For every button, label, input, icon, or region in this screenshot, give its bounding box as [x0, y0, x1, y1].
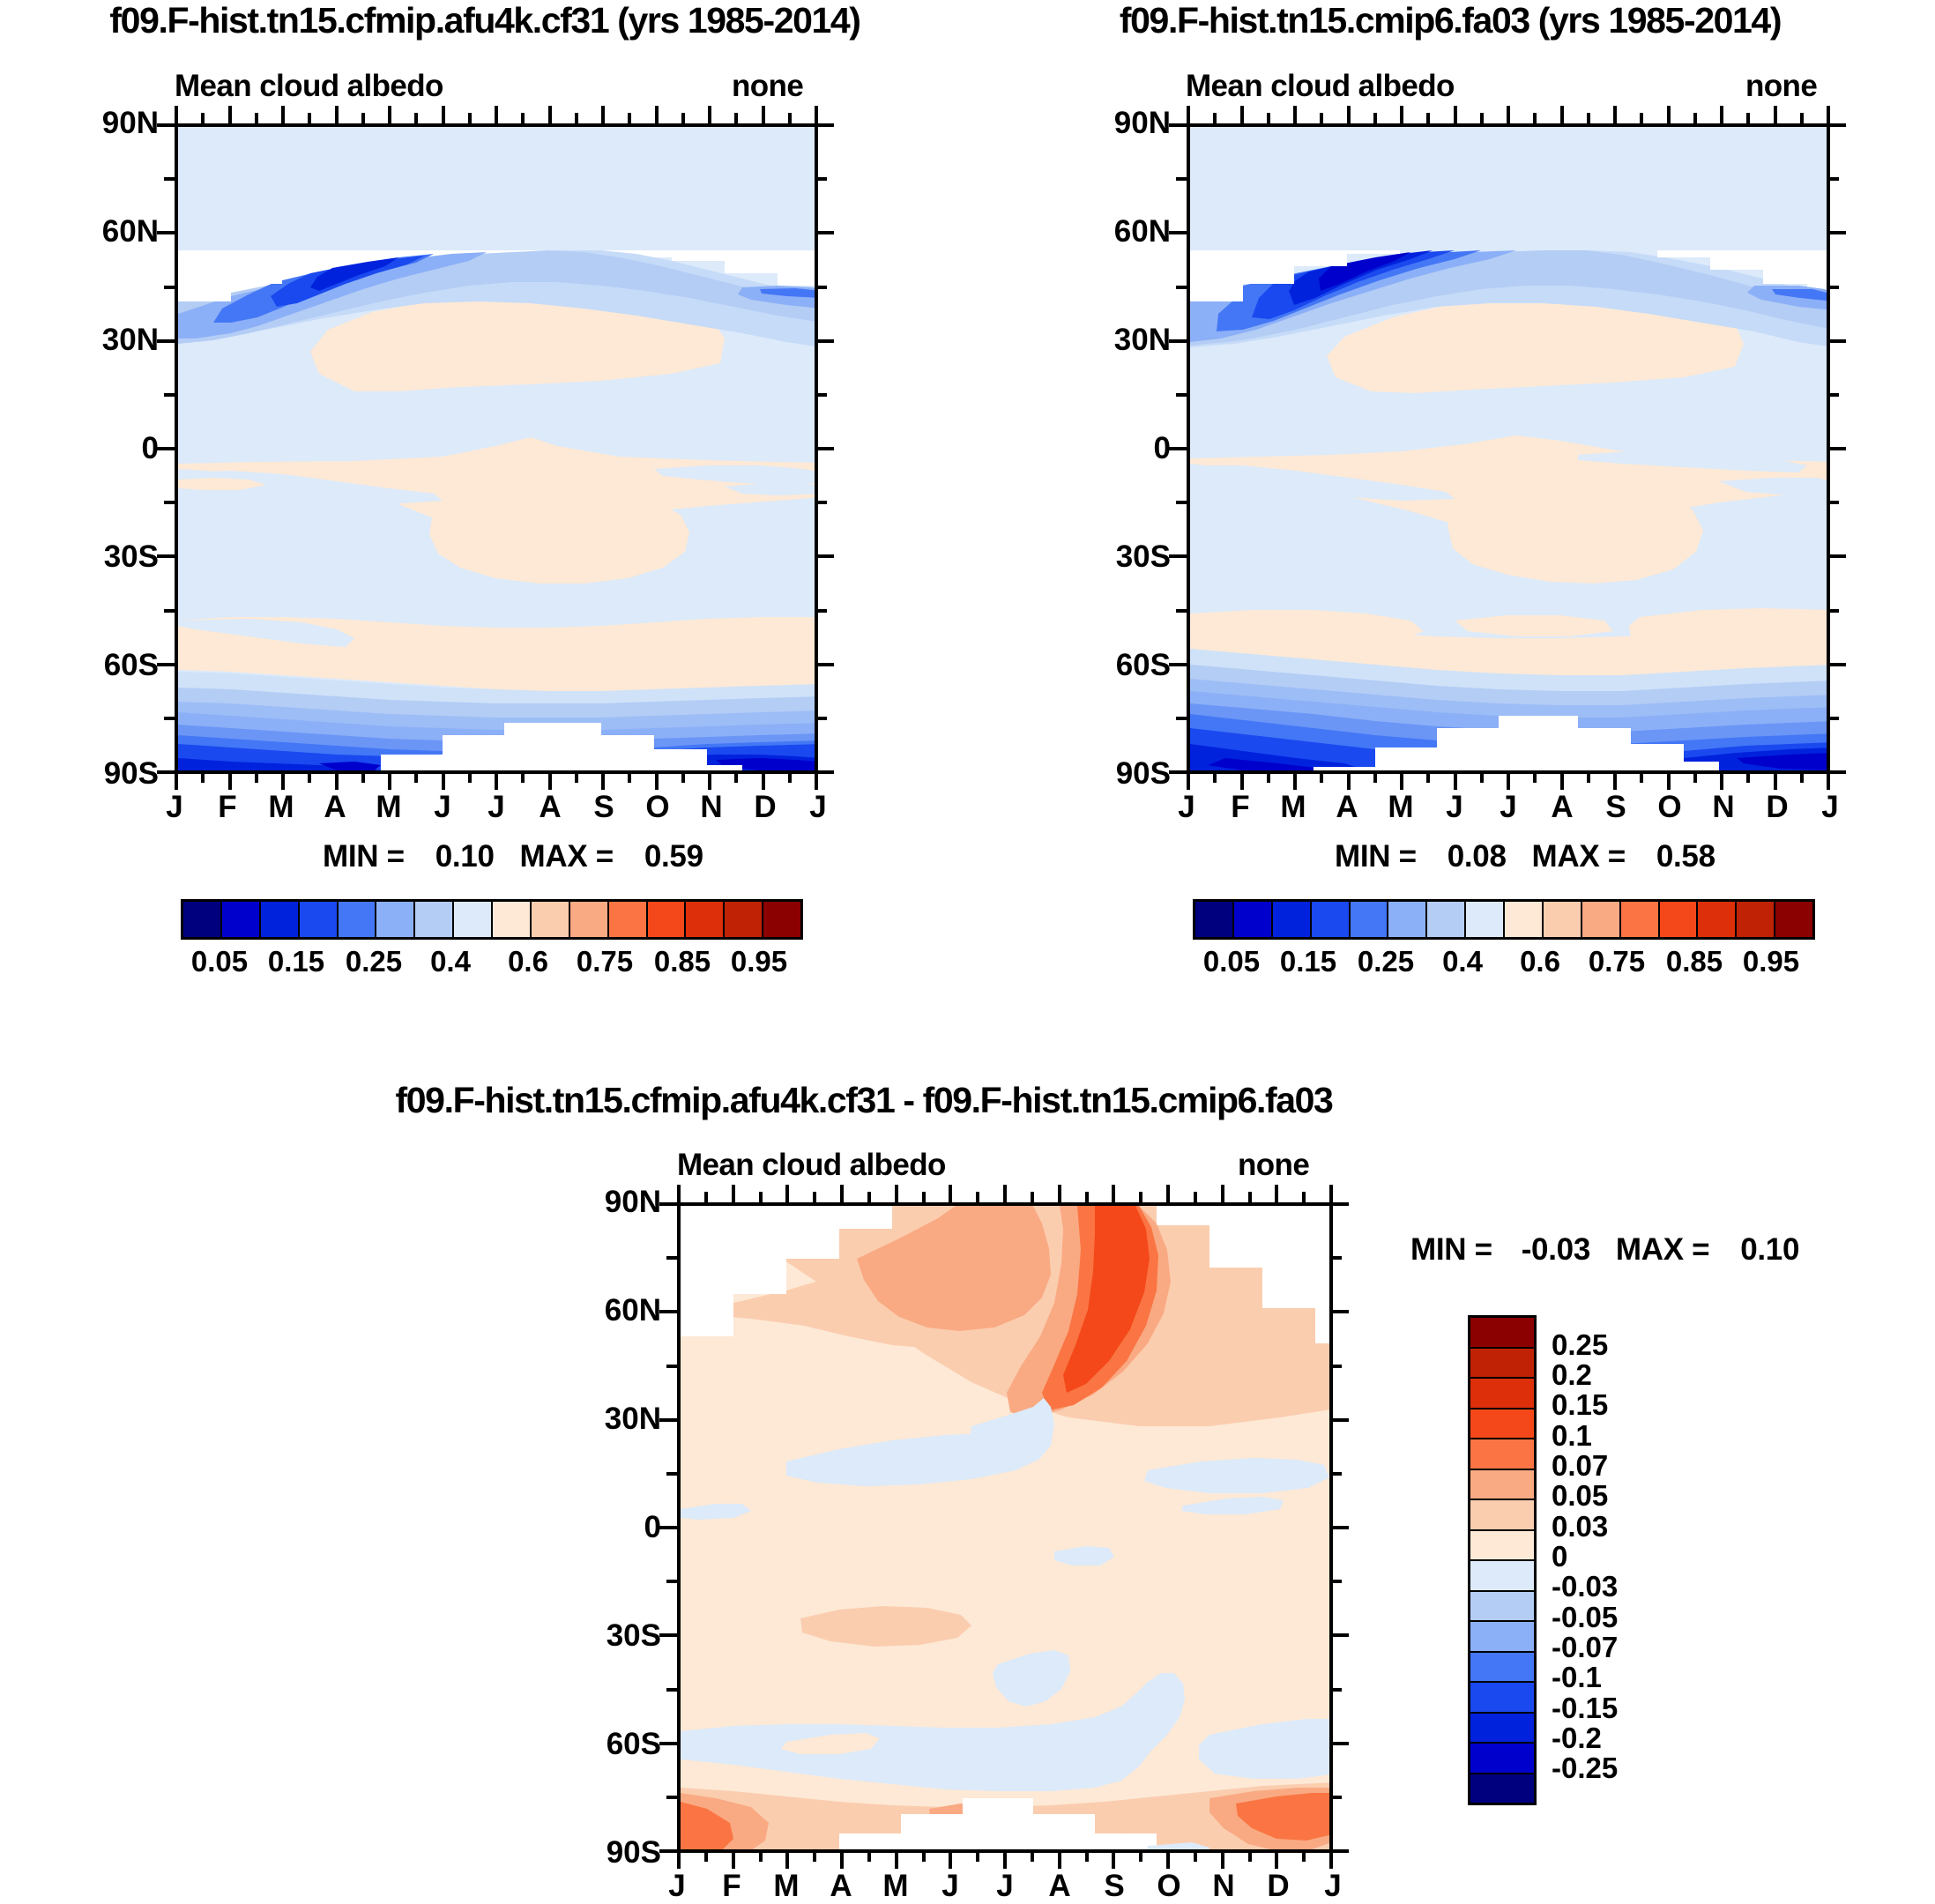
axis-tick-minor	[1480, 772, 1484, 783]
axis-tick-minor	[813, 1851, 816, 1862]
axis-tick-minor	[1213, 772, 1217, 783]
panel-difference-units-label: none	[1238, 1148, 1309, 1183]
colorbar-cell	[1470, 1379, 1534, 1409]
axis-tick-minor	[666, 1580, 677, 1583]
axis-tick-minor	[666, 1688, 677, 1692]
ytick-label-30n: 30N	[53, 323, 159, 358]
axis-tick-minor	[1331, 1472, 1342, 1476]
axis-tick-minor	[1746, 772, 1750, 783]
axis-tick-minor	[681, 113, 685, 123]
axis-tick	[1169, 231, 1187, 234]
axis-tick-minor	[666, 1365, 677, 1368]
axis-tick-minor	[1320, 772, 1323, 783]
axis-tick	[1112, 1185, 1115, 1202]
colorbar-cell	[1660, 902, 1699, 937]
axis-tick	[1667, 106, 1671, 123]
axis-tick	[840, 1851, 844, 1869]
colorbar-cell	[1388, 902, 1427, 937]
axis-tick	[1347, 106, 1351, 123]
axis-tick	[442, 772, 445, 790]
axis-tick	[1828, 554, 1846, 558]
axis-tick-minor	[816, 177, 827, 181]
panel-difference-minmax: MIN = -0.03 MAX = 0.10	[1410, 1232, 1799, 1268]
axis-tick-minor	[1139, 1851, 1142, 1862]
colorbar-cell	[1427, 902, 1466, 937]
colorbar-cell	[763, 902, 800, 937]
axis-tick	[1166, 1185, 1170, 1202]
axis-tick	[1454, 106, 1457, 123]
axis-tick	[1275, 1185, 1278, 1202]
colorbar-cell	[1470, 1774, 1534, 1804]
axis-tick-minor	[1828, 286, 1839, 289]
ytick-label-60s: 60S	[555, 1727, 661, 1762]
ytick-label-60n: 60N	[555, 1293, 661, 1328]
axis-tick-minor	[1373, 113, 1377, 123]
axis-tick-minor	[1194, 1851, 1197, 1862]
axis-tick	[1240, 106, 1244, 123]
ytick-label-60s: 60S	[1065, 648, 1171, 683]
axis-tick	[281, 106, 285, 123]
colorbar-cell	[532, 902, 570, 937]
axis-tick	[677, 1185, 681, 1202]
ytick-label-30n: 30N	[1065, 323, 1171, 358]
axis-tick-minor	[922, 1192, 926, 1202]
colorbar-cell	[1351, 902, 1389, 937]
axis-tick-minor	[976, 1851, 979, 1862]
panel-top-right-title: f09.F-hist.tn15.cmip6.fa03 (yrs 1985-201…	[965, 0, 1935, 41]
axis-tick	[1828, 447, 1846, 450]
colorbar-difference[interactable]	[1468, 1315, 1537, 1805]
axis-tick	[1187, 772, 1190, 790]
axis-tick	[388, 772, 391, 790]
axis-tick-minor	[164, 177, 175, 181]
axis-tick	[1667, 772, 1671, 790]
colorbar-top-left[interactable]	[181, 899, 803, 940]
ytick-label-90s: 90S	[53, 756, 159, 792]
axis-tick-minor	[666, 1472, 677, 1476]
axis-tick-minor	[201, 113, 205, 123]
ytick-label-60n: 60N	[53, 214, 159, 249]
axis-tick-minor	[1640, 113, 1643, 123]
axis-tick-minor	[414, 772, 418, 783]
panel-top-left-variable-label: Mean cloud albedo	[175, 69, 443, 104]
axis-tick-minor	[1031, 1192, 1034, 1202]
axis-tick-minor	[1085, 1192, 1089, 1202]
axis-tick-minor	[734, 772, 738, 783]
colorbar-cell	[609, 902, 648, 937]
colorbar-cell	[1470, 1592, 1534, 1623]
axis-tick	[548, 106, 552, 123]
colorbar-cell	[1775, 902, 1812, 937]
axis-tick	[1058, 1851, 1061, 1869]
colorbar-cell	[376, 902, 415, 937]
axis-tick	[815, 106, 818, 123]
axis-tick	[1507, 106, 1510, 123]
panel-top-right-variable-label: Mean cloud albedo	[1186, 69, 1455, 104]
axis-tick-minor	[1302, 1192, 1306, 1202]
colorbar-cell	[1466, 902, 1505, 937]
axis-tick-minor	[666, 1256, 677, 1260]
axis-tick	[659, 1526, 677, 1529]
axis-tick	[1221, 1851, 1224, 1869]
axis-tick	[157, 554, 175, 558]
colorbar-cell	[1470, 1349, 1534, 1380]
axis-tick	[732, 1851, 735, 1869]
axis-tick-minor	[1828, 501, 1839, 504]
axis-tick-minor	[1176, 286, 1187, 289]
axis-tick	[157, 123, 175, 127]
colorbar-cell	[183, 902, 222, 937]
axis-tick	[949, 1185, 952, 1202]
axis-tick	[659, 1202, 677, 1206]
axis-tick-minor	[867, 1192, 871, 1202]
axis-tick-minor	[1176, 393, 1187, 397]
axis-tick	[762, 106, 765, 123]
colorbar-cell	[1737, 902, 1775, 937]
axis-tick	[1293, 106, 1297, 123]
axis-tick	[1720, 772, 1723, 790]
axis-tick-minor	[1267, 772, 1270, 783]
axis-tick-minor	[1320, 113, 1323, 123]
axis-tick	[1293, 772, 1297, 790]
axis-tick-minor	[361, 113, 365, 123]
axis-tick-minor	[1426, 772, 1430, 783]
axis-tick-minor	[1139, 1192, 1142, 1202]
colorbar-cell	[1698, 902, 1737, 937]
contour-field-top-left	[178, 127, 818, 774]
axis-tick-minor	[1176, 717, 1187, 720]
ytick-label-0: 0	[1065, 431, 1171, 466]
axis-tick	[1828, 663, 1846, 666]
axis-tick	[708, 106, 711, 123]
axis-tick	[1613, 106, 1617, 123]
axis-tick	[659, 1742, 677, 1745]
axis-tick	[157, 231, 175, 234]
axis-tick	[601, 106, 605, 123]
axis-tick-minor	[681, 772, 685, 783]
axis-tick	[1400, 772, 1403, 790]
contour-field-top-right	[1190, 127, 1830, 774]
axis-tick	[1507, 772, 1510, 790]
axis-tick-minor	[1213, 113, 1217, 123]
axis-tick	[1169, 339, 1187, 343]
axis-tick-minor	[1331, 1688, 1342, 1692]
axis-tick	[1112, 1851, 1115, 1869]
axis-tick-minor	[575, 113, 578, 123]
axis-tick-minor	[164, 609, 175, 613]
axis-tick-minor	[922, 1851, 926, 1862]
colorbar-top-right[interactable]	[1193, 899, 1815, 940]
axis-tick-minor	[759, 1851, 763, 1862]
axis-tick-minor	[468, 113, 472, 123]
axis-tick	[157, 339, 175, 343]
axis-tick-minor	[788, 772, 792, 783]
axis-tick-minor	[201, 772, 205, 783]
axis-tick	[548, 772, 552, 790]
ytick-label-60n: 60N	[1065, 214, 1171, 249]
axis-tick-minor	[1533, 113, 1537, 123]
axis-tick-minor	[759, 1192, 763, 1202]
colorbar-cell	[686, 902, 725, 937]
axis-tick-minor	[867, 1851, 871, 1862]
axis-tick-minor	[255, 772, 258, 783]
axis-tick	[816, 231, 834, 234]
colorbar-cell	[222, 902, 261, 937]
axis-tick-minor	[1828, 717, 1839, 720]
contour-plot-top-left	[175, 123, 818, 774]
panel-top-left-minmax: MIN = 0.10 MAX = 0.59	[323, 839, 703, 874]
axis-tick	[785, 1185, 789, 1202]
axis-tick-minor	[1587, 772, 1590, 783]
axis-tick	[815, 772, 818, 790]
ytick-label-30s: 30S	[1065, 539, 1171, 575]
axis-tick-minor	[813, 1192, 816, 1202]
panel-difference-variable-label: Mean cloud albedo	[677, 1148, 946, 1183]
axis-tick	[1560, 772, 1564, 790]
axis-tick	[1166, 1851, 1170, 1869]
axis-tick	[1828, 339, 1846, 343]
axis-tick	[1774, 772, 1777, 790]
axis-tick-minor	[1640, 772, 1643, 783]
axis-tick-minor	[816, 609, 827, 613]
ytick-label-30n: 30N	[555, 1402, 661, 1437]
colorbar-cell	[1582, 902, 1621, 937]
axis-tick	[1331, 1418, 1349, 1422]
ytick-label-0: 0	[53, 431, 159, 466]
ytick-label-30s: 30S	[555, 1618, 661, 1654]
axis-tick	[1169, 663, 1187, 666]
axis-tick	[1400, 106, 1403, 123]
ytick-label-90n: 90N	[1065, 106, 1171, 141]
axis-tick-minor	[1828, 177, 1839, 181]
ytick-label-90s: 90S	[1065, 756, 1171, 792]
axis-tick-minor	[1480, 113, 1484, 123]
axis-tick-minor	[976, 1192, 979, 1202]
colorbar-cell	[1195, 902, 1234, 937]
colorbar-cell	[1470, 1622, 1534, 1653]
axis-tick	[175, 772, 178, 790]
axis-tick	[1003, 1851, 1007, 1869]
axis-tick-minor	[164, 717, 175, 720]
axis-tick	[1003, 1185, 1007, 1202]
axis-tick	[655, 106, 659, 123]
axis-tick-minor	[1426, 113, 1430, 123]
axis-tick	[1058, 1185, 1061, 1202]
axis-tick	[1347, 772, 1351, 790]
axis-tick-minor	[628, 772, 631, 783]
colorbar-cell	[1470, 1470, 1534, 1501]
axis-tick-minor	[1533, 772, 1537, 783]
panel-difference-title: f09.F-hist.tn15.cfmip.afu4k.cf31 - f09.F…	[247, 1080, 1481, 1121]
axis-tick	[816, 663, 834, 666]
axis-tick	[1454, 772, 1457, 790]
axis-tick	[157, 447, 175, 450]
axis-tick-minor	[164, 501, 175, 504]
panel-top-right-units-label: none	[1745, 69, 1817, 104]
axis-tick	[659, 1310, 677, 1313]
axis-tick	[157, 663, 175, 666]
axis-tick-minor	[255, 113, 258, 123]
axis-tick	[785, 1851, 789, 1869]
ytick-label-30s: 30S	[53, 539, 159, 575]
ytick-label-90n: 90N	[555, 1185, 661, 1220]
axis-tick-minor	[1828, 393, 1839, 397]
axis-tick	[816, 339, 834, 343]
axis-tick	[335, 106, 339, 123]
axis-tick	[495, 772, 498, 790]
axis-tick	[708, 772, 711, 790]
colorbar-cell	[300, 902, 339, 937]
axis-tick-minor	[521, 113, 525, 123]
axis-tick	[1827, 772, 1830, 790]
axis-tick	[895, 1185, 898, 1202]
axis-tick-minor	[1693, 772, 1697, 783]
axis-tick	[732, 1185, 735, 1202]
axis-tick	[1331, 1849, 1349, 1853]
colorbar-cell	[1470, 1714, 1534, 1744]
axis-tick-minor	[1248, 1192, 1252, 1202]
ytick-label-90s: 90S	[555, 1835, 661, 1871]
colorbar-cell	[1273, 902, 1312, 937]
axis-tick	[949, 1851, 952, 1869]
axis-tick	[1331, 1633, 1349, 1637]
axis-tick	[228, 106, 232, 123]
axis-tick	[1240, 772, 1244, 790]
axis-tick	[175, 106, 178, 123]
axis-tick-minor	[816, 501, 827, 504]
axis-tick	[228, 772, 232, 790]
axis-tick-minor	[666, 1796, 677, 1799]
axis-tick-minor	[164, 393, 175, 397]
axis-tick-minor	[704, 1192, 708, 1202]
axis-tick-minor	[1373, 772, 1377, 783]
axis-tick-minor	[414, 113, 418, 123]
axis-tick	[659, 1418, 677, 1422]
axis-tick-minor	[1331, 1256, 1342, 1260]
colorbar-cell	[1544, 902, 1582, 937]
axis-tick-minor	[1176, 177, 1187, 181]
axis-tick	[659, 1633, 677, 1637]
axis-tick-minor	[308, 772, 311, 783]
axis-tick-minor	[1828, 609, 1839, 613]
colorbar-cell	[1621, 902, 1660, 937]
axis-tick-minor	[734, 113, 738, 123]
axis-tick-minor	[1331, 1580, 1342, 1583]
axis-tick	[1169, 770, 1187, 774]
colorbar-cell	[1505, 902, 1544, 937]
axis-tick-minor	[1302, 1851, 1306, 1862]
axis-tick	[1828, 123, 1846, 127]
axis-tick-minor	[1800, 772, 1804, 783]
colorbar-cell	[725, 902, 763, 937]
axis-tick	[1613, 772, 1617, 790]
axis-tick	[677, 1851, 681, 1869]
axis-tick	[1560, 106, 1564, 123]
axis-tick	[1169, 123, 1187, 127]
axis-tick	[816, 554, 834, 558]
axis-tick	[1828, 231, 1846, 234]
axis-tick	[816, 770, 834, 774]
axis-tick-minor	[1031, 1851, 1034, 1862]
axis-tick	[1169, 447, 1187, 450]
panel-top-left-units-label: none	[732, 69, 803, 104]
axis-tick	[1329, 1185, 1333, 1202]
axis-tick-minor	[361, 772, 365, 783]
colorbar-cell	[1470, 1531, 1534, 1562]
colorbar-cell	[1234, 902, 1273, 937]
axis-tick	[1221, 1185, 1224, 1202]
colorbar-cell	[1312, 902, 1351, 937]
axis-tick	[157, 770, 175, 774]
ytick-label-0: 0	[555, 1510, 661, 1545]
axis-tick-minor	[1085, 1851, 1089, 1862]
ytick-label-90n: 90N	[53, 106, 159, 141]
colorbar-cell	[1470, 1500, 1534, 1531]
axis-tick	[1720, 106, 1723, 123]
axis-tick	[895, 1851, 898, 1869]
axis-tick	[335, 772, 339, 790]
axis-tick	[1774, 106, 1777, 123]
axis-tick	[1331, 1526, 1349, 1529]
axis-tick	[816, 123, 834, 127]
axis-tick-minor	[308, 113, 311, 123]
axis-tick-minor	[816, 717, 827, 720]
axis-tick-minor	[1248, 1851, 1252, 1862]
colorbar-cell	[570, 902, 609, 937]
axis-tick-minor	[788, 113, 792, 123]
axis-tick-minor	[704, 1851, 708, 1862]
colorbar-cell	[1470, 1439, 1534, 1470]
axis-tick	[762, 772, 765, 790]
axis-tick-minor	[1746, 113, 1750, 123]
axis-tick	[1331, 1202, 1349, 1206]
axis-tick	[1331, 1742, 1349, 1745]
axis-tick	[495, 106, 498, 123]
axis-tick	[1828, 770, 1846, 774]
axis-tick-minor	[1331, 1365, 1342, 1368]
axis-tick	[1169, 554, 1187, 558]
axis-tick	[601, 772, 605, 790]
colorbar-cell	[415, 902, 454, 937]
axis-tick-minor	[816, 393, 827, 397]
colorbar-cell	[1470, 1409, 1534, 1440]
axis-tick	[816, 447, 834, 450]
colorbar-cell	[1470, 1561, 1534, 1592]
axis-tick	[281, 772, 285, 790]
axis-tick-minor	[1693, 113, 1697, 123]
ytick-label-60s: 60S	[53, 648, 159, 683]
axis-tick	[655, 772, 659, 790]
axis-tick-minor	[1331, 1796, 1342, 1799]
contour-field-difference	[681, 1206, 1333, 1853]
axis-tick-minor	[628, 113, 631, 123]
colorbar-cell	[1470, 1318, 1534, 1349]
axis-tick-minor	[1800, 113, 1804, 123]
colorbar-cell	[339, 902, 377, 937]
axis-tick-minor	[1267, 113, 1270, 123]
contour-plot-difference	[677, 1202, 1333, 1853]
axis-tick	[1331, 1310, 1349, 1313]
colorbar-cell	[454, 902, 493, 937]
panel-top-right-minmax: MIN = 0.08 MAX = 0.58	[1335, 839, 1715, 874]
axis-tick	[388, 106, 391, 123]
axis-tick	[1329, 1851, 1333, 1869]
axis-tick-minor	[468, 772, 472, 783]
axis-tick-minor	[1176, 609, 1187, 613]
axis-tick	[1187, 106, 1190, 123]
axis-tick	[442, 106, 445, 123]
panel-top-left-title: f09.F-hist.tn15.cfmip.afu4k.cf31 (yrs 19…	[0, 0, 970, 41]
